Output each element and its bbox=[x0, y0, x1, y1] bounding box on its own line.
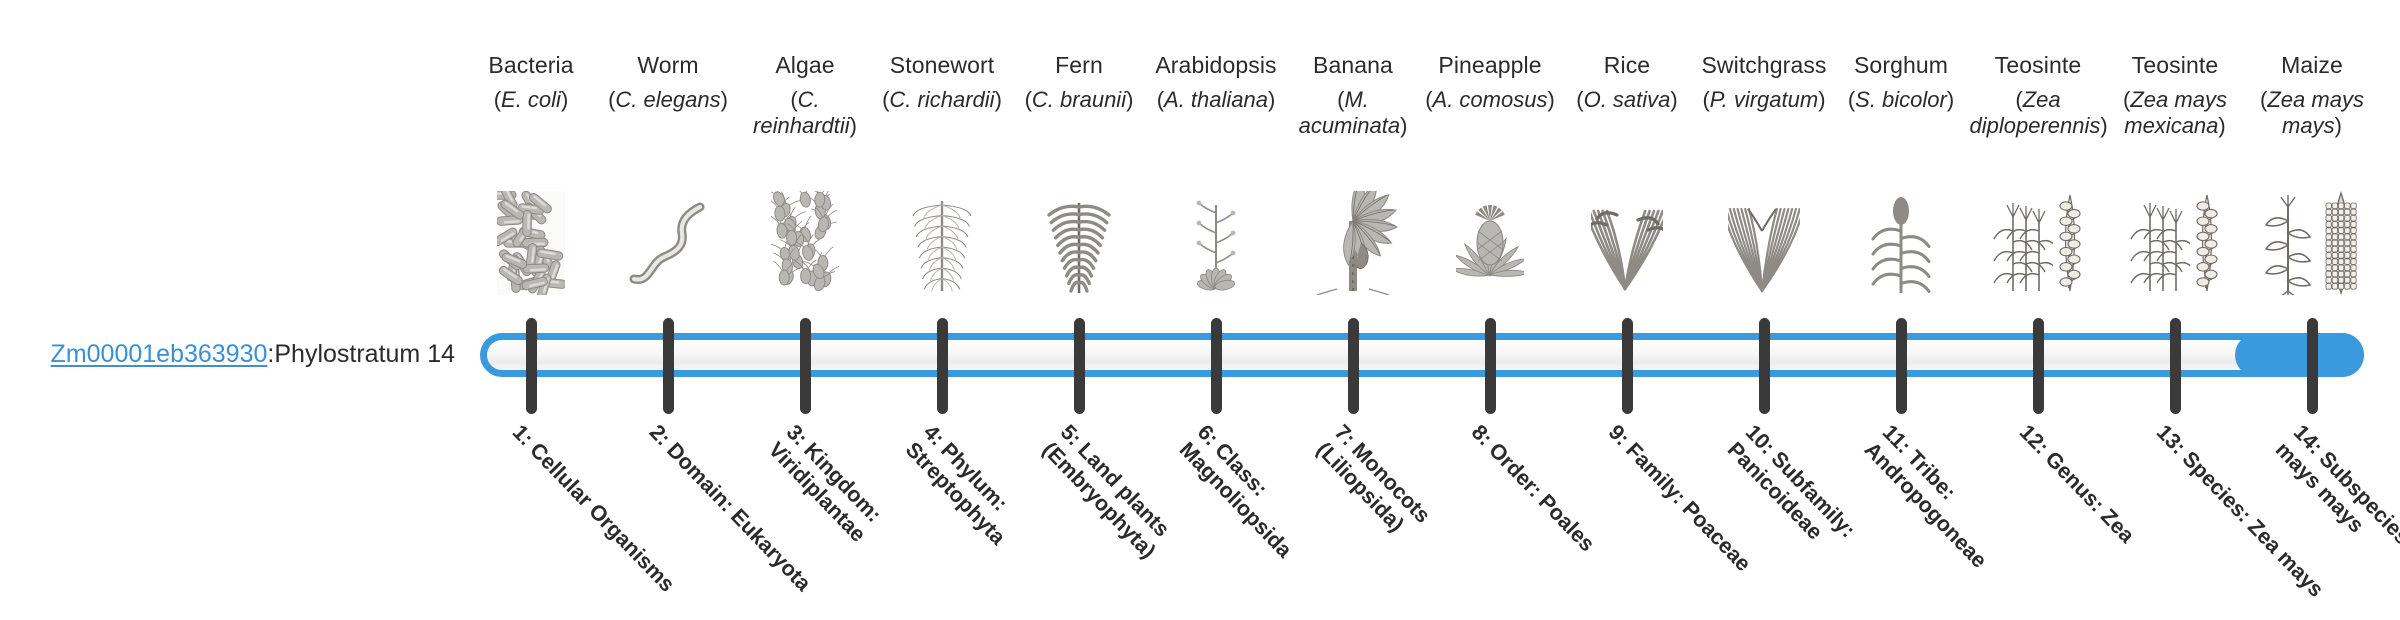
species-column-sorghum: Sorghum(S. bicolor) bbox=[1833, 52, 1970, 113]
species-illustration-group bbox=[1559, 175, 1696, 295]
species-common-name: Pineapple bbox=[1422, 52, 1559, 78]
species-illustration-group bbox=[1833, 175, 1970, 295]
stratum-tick-2[interactable] bbox=[663, 318, 674, 414]
stratum-tick-11[interactable] bbox=[1896, 318, 1907, 414]
species-common-name: Sorghum bbox=[1833, 52, 1970, 78]
gene-label-separator: : bbox=[267, 341, 274, 369]
phylostratum-value: Phylostratum 14 bbox=[274, 341, 455, 369]
species-latin-name: (E. coli) bbox=[463, 87, 600, 113]
stratum-tick-14[interactable] bbox=[2307, 318, 2318, 414]
species-column-teosinte: Teosinte(Zea diploperennis) bbox=[1970, 52, 2107, 139]
species-common-name: Arabidopsis bbox=[1148, 52, 1285, 78]
stratum-tick-5[interactable] bbox=[1074, 318, 1085, 414]
species-illustration-group bbox=[1011, 175, 1148, 295]
species-illustration-group bbox=[1422, 175, 1559, 295]
species-latin-name: (C. braunii) bbox=[1011, 87, 1148, 113]
species-latin-name: (O. sativa) bbox=[1559, 87, 1696, 113]
stratum-tick-4[interactable] bbox=[937, 318, 948, 414]
stratum-tick-12[interactable] bbox=[2033, 318, 2044, 414]
phylostratum-timeline-figure: Zm00001eb363930: Phylostratum 14 Bacteri… bbox=[0, 0, 2400, 580]
species-column-bacteria: Bacteria(E. coli) bbox=[463, 52, 600, 113]
species-latin-name: (M. acuminata) bbox=[1285, 87, 1422, 139]
phylostratum-progress-bar[interactable] bbox=[480, 333, 2364, 377]
stratum-tick-8[interactable] bbox=[1485, 318, 1496, 414]
stratum-name: Subfamily: Panicoideae bbox=[1723, 437, 1860, 544]
stratum-name: Cellular Organisms bbox=[525, 438, 679, 596]
progress-track bbox=[480, 333, 2364, 377]
stratum-name: Genus: Zea bbox=[2040, 447, 2139, 548]
sorghum-plant-illustration bbox=[1867, 191, 1935, 295]
stratum-tick-9[interactable] bbox=[1622, 318, 1633, 414]
species-latin-name: (C. richardii) bbox=[874, 87, 1011, 113]
species-common-name: Worm bbox=[600, 52, 737, 78]
species-common-name: Stonewort bbox=[874, 52, 1011, 78]
species-column-rice: Rice(O. sativa) bbox=[1559, 52, 1696, 113]
stratum-tick-6[interactable] bbox=[1211, 318, 1222, 414]
teosinte-plant-illustration bbox=[1991, 191, 2053, 295]
switchgrass-plant-illustration bbox=[1728, 191, 1800, 295]
gene-id-link[interactable]: Zm00001eb363930 bbox=[51, 341, 268, 369]
species-column-stonewort: Stonewort(C. richardii) bbox=[874, 52, 1011, 113]
arabidopsis-rosette-illustration bbox=[1182, 191, 1250, 295]
species-illustration-group bbox=[1696, 175, 1833, 295]
teosinte-ear-illustration bbox=[2192, 191, 2222, 295]
stratum-name: Land plants (Embryophyta) bbox=[1038, 437, 1174, 563]
species-illustration-group bbox=[737, 175, 874, 295]
nematode-worm-illustration bbox=[620, 191, 716, 295]
species-common-name: Maize bbox=[2244, 52, 2381, 78]
species-latin-name: (S. bicolor) bbox=[1833, 87, 1970, 113]
species-latin-name: (Zea mays mays) bbox=[2244, 87, 2381, 139]
species-latin-name: (A. thaliana) bbox=[1148, 87, 1285, 113]
species-column-fern: Fern(C. braunii) bbox=[1011, 52, 1148, 113]
gene-phylostratum-label: Zm00001eb363930: Phylostratum 14 bbox=[0, 333, 455, 377]
species-common-name: Banana bbox=[1285, 52, 1422, 78]
species-column-worm: Worm(C. elegans) bbox=[600, 52, 737, 113]
banana-plant-illustration bbox=[1303, 191, 1403, 295]
species-common-name: Rice bbox=[1559, 52, 1696, 78]
stratum-tick-3[interactable] bbox=[800, 318, 811, 414]
bacteria-rods-illustration bbox=[497, 191, 565, 295]
stratum-name: Order: Poales bbox=[1484, 438, 1599, 556]
species-common-name: Teosinte bbox=[2107, 52, 2244, 78]
stratum-tick-7[interactable] bbox=[1348, 318, 1359, 414]
species-illustration-group bbox=[1148, 175, 1285, 295]
stratum-name: Monocots (Liliopsida) bbox=[1312, 437, 1435, 536]
stratum-label-14: 14: Subspecies: Zea mays mays bbox=[2270, 420, 2400, 620]
rice-plant-illustration bbox=[1591, 191, 1663, 295]
fern-frond-illustration bbox=[1045, 191, 1113, 295]
species-common-name: Fern bbox=[1011, 52, 1148, 78]
maize-plant-illustration bbox=[2262, 191, 2318, 295]
stratum-tick-10[interactable] bbox=[1759, 318, 1770, 414]
species-common-name: Bacteria bbox=[463, 52, 600, 78]
species-latin-name: (C. reinhardtii) bbox=[737, 87, 874, 139]
species-illustration-group bbox=[2244, 175, 2381, 295]
species-column-arabidopsis: Arabidopsis(A. thaliana) bbox=[1148, 52, 1285, 113]
progress-fill-current-stratum bbox=[2235, 333, 2364, 377]
species-column-banana: Banana(M. acuminata) bbox=[1285, 52, 1422, 139]
stratum-name: Kingdom: Viridiplantae bbox=[764, 437, 886, 546]
species-latin-name: (Zea diploperennis) bbox=[1970, 87, 2107, 139]
species-illustration-group bbox=[874, 175, 1011, 295]
teosinte-plant-illustration bbox=[2128, 191, 2190, 295]
maize-ear-illustration bbox=[2320, 191, 2362, 295]
species-latin-name: (C. elegans) bbox=[600, 87, 737, 113]
species-illustration-group bbox=[463, 175, 600, 295]
species-column-algae: Algae(C. reinhardtii) bbox=[737, 52, 874, 139]
species-illustration-group bbox=[600, 175, 737, 295]
stratum-tick-13[interactable] bbox=[2170, 318, 2181, 414]
species-illustration-group bbox=[1285, 175, 1422, 295]
species-latin-name: (P. virgatum) bbox=[1696, 87, 1833, 113]
species-column-teosinte: Teosinte(Zea mays mexicana) bbox=[2107, 52, 2244, 139]
pineapple-plant-illustration bbox=[1456, 191, 1524, 295]
green-algae-cells-illustration bbox=[771, 191, 839, 295]
species-common-name: Algae bbox=[737, 52, 874, 78]
species-column-switchgrass: Switchgrass(P. virgatum) bbox=[1696, 52, 1833, 113]
species-common-name: Teosinte bbox=[1970, 52, 2107, 78]
teosinte-ear-illustration bbox=[2055, 191, 2085, 295]
stratum-name: Phylum: Streptophyta bbox=[901, 437, 1013, 549]
species-latin-name: (Zea mays mexicana) bbox=[2107, 87, 2244, 139]
species-illustration-group bbox=[1970, 175, 2107, 295]
species-column-maize: Maize(Zea mays mays) bbox=[2244, 52, 2381, 139]
stratum-tick-1[interactable] bbox=[526, 318, 537, 414]
species-latin-name: (A. comosus) bbox=[1422, 87, 1559, 113]
species-common-name: Switchgrass bbox=[1696, 52, 1833, 78]
species-column-pineapple: Pineapple(A. comosus) bbox=[1422, 52, 1559, 113]
stonewort-alga-illustration bbox=[908, 191, 976, 295]
species-illustration-group bbox=[2107, 175, 2244, 295]
